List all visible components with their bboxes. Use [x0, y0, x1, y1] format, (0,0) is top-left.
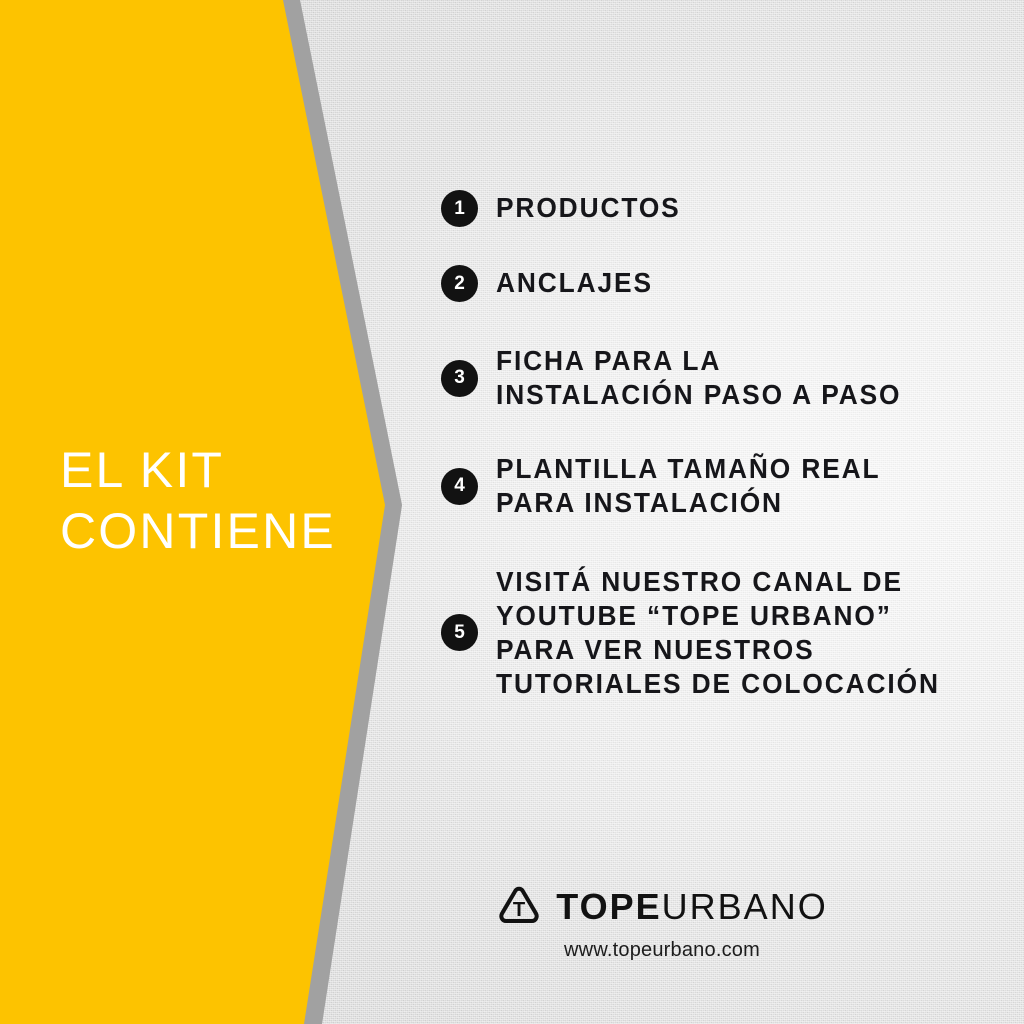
list-item: 3 FICHA PARA LA INSTALACIÓN PASO A PASO [441, 344, 981, 412]
list-item-text: FICHA PARA LA INSTALACIÓN PASO A PASO [496, 344, 901, 412]
brand-wordmark-light: URBANO [662, 886, 828, 927]
list-item-line: VISITÁ NUESTRO CANAL DE [496, 565, 940, 599]
list-item-text: PRODUCTOS [496, 191, 681, 225]
list-item-line: PRODUCTOS [496, 191, 681, 225]
list-item-line: PLANTILLA TAMAÑO REAL [496, 452, 881, 486]
kit-contents-list: 1 PRODUCTOS 2 ANCLAJES 3 FICHA PARA LA I… [441, 190, 981, 701]
list-item-line: INSTALACIÓN PASO A PASO [496, 378, 901, 412]
list-item-line: PARA VER NUESTROS [496, 633, 940, 667]
svg-text:T: T [513, 899, 526, 921]
list-item-line: PARA INSTALACIÓN [496, 486, 881, 520]
list-item-text: PLANTILLA TAMAÑO REAL PARA INSTALACIÓN [496, 452, 881, 520]
list-item-text: ANCLAJES [496, 266, 653, 300]
brand-wordmark-bold: TOPE [556, 886, 661, 927]
brand-logo-row: T TOPEURBANO [496, 884, 827, 930]
list-item: 4 PLANTILLA TAMAÑO REAL PARA INSTALACIÓN [441, 452, 981, 520]
list-item-line: FICHA PARA LA [496, 344, 901, 378]
list-item: 1 PRODUCTOS [441, 190, 981, 227]
list-item-number-badge: 4 [441, 468, 478, 505]
list-item-line: ANCLAJES [496, 266, 653, 300]
list-item: 5 VISITÁ NUESTRO CANAL DE YOUTUBE “TOPE … [441, 565, 981, 702]
brand-website-url: www.topeurbano.com [564, 939, 760, 962]
promo-poster: EL KIT CONTIENE 1 PRODUCTOS 2 ANCLAJES 3… [0, 0, 1024, 1024]
brand-wordmark: TOPEURBANO [556, 889, 827, 925]
list-item: 2 ANCLAJES [441, 265, 981, 302]
page-title-line-1: EL KIT [60, 440, 360, 501]
brand-footer: T TOPEURBANO www.topeurbano.com [0, 884, 1024, 962]
page-title: EL KIT CONTIENE [60, 440, 360, 562]
tope-urbano-triangle-t-logo-icon: T [496, 884, 542, 930]
list-item-line: YOUTUBE “TOPE URBANO” [496, 599, 940, 633]
page-title-line-2: CONTIENE [60, 501, 360, 562]
list-item-number-badge: 3 [441, 360, 478, 397]
list-item-number-badge: 5 [441, 614, 478, 651]
list-item-number-badge: 1 [441, 190, 478, 227]
list-item-number-badge: 2 [441, 265, 478, 302]
list-item-text: VISITÁ NUESTRO CANAL DE YOUTUBE “TOPE UR… [496, 565, 940, 702]
list-item-line: TUTORIALES DE COLOCACIÓN [496, 667, 940, 701]
